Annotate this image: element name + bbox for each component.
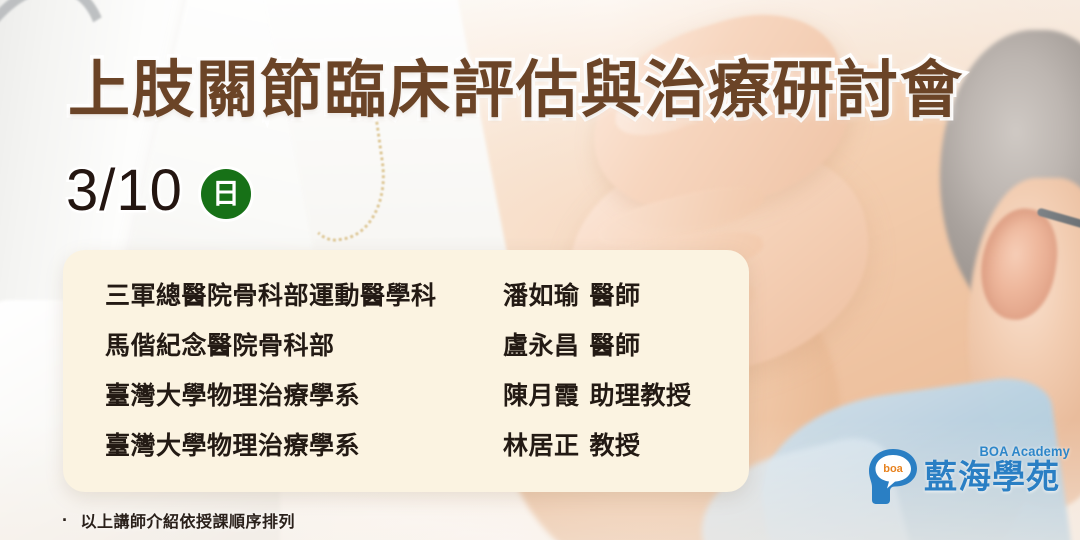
- speaker-organization: 馬偕紀念醫院骨科部: [105, 326, 503, 362]
- speaker-row: 馬偕紀念醫院骨科部 盧永昌醫師: [63, 326, 749, 376]
- speaker-person: 陳月霞助理教授: [503, 376, 692, 412]
- speaker-role: 教授: [590, 432, 641, 460]
- speaker-organization: 三軍總醫院骨科部運動醫學科: [105, 276, 503, 312]
- logo-chinese-name: 藍海學苑: [924, 460, 1070, 495]
- logo-mark-text: boa: [883, 463, 903, 475]
- banner-title: 上肢關節臨床評估與治療研討會: [68, 56, 964, 125]
- footnote: · 以上講師介紹依授課順序排列: [62, 508, 295, 532]
- speaker-name: 陳月霞: [503, 382, 580, 410]
- boa-academy-logo: boa BOA Academy 藍海學苑: [866, 443, 1066, 505]
- speaker-name: 潘如瑜: [503, 282, 580, 310]
- speaker-row: 臺灣大學物理治療學系 林居正教授: [63, 426, 749, 476]
- event-date: 3/10: [66, 162, 183, 220]
- speaker-role: 醫師: [590, 282, 641, 310]
- speaker-person: 林居正教授: [503, 426, 641, 462]
- event-date-row: 3/10 日: [66, 162, 251, 220]
- speaker-role: 助理教授: [590, 382, 692, 410]
- speaker-row: 三軍總醫院骨科部運動醫學科 潘如瑜醫師: [63, 276, 749, 326]
- banner-content: 上肢關節臨床評估與治療研討會 3/10 日 三軍總醫院骨科部運動醫學科 潘如瑜醫…: [0, 0, 1080, 540]
- speaker-person: 潘如瑜醫師: [503, 276, 641, 312]
- speaker-name: 林居正: [503, 432, 580, 460]
- weekday-badge: 日: [201, 169, 251, 219]
- speaker-organization: 臺灣大學物理治療學系: [105, 376, 503, 412]
- footnote-bullet-icon: ·: [62, 511, 69, 529]
- seminar-banner: 上肢關節臨床評估與治療研討會 3/10 日 三軍總醫院骨科部運動醫學科 潘如瑜醫…: [0, 0, 1080, 540]
- speaker-role: 醫師: [590, 332, 641, 360]
- speaker-organization: 臺灣大學物理治療學系: [105, 426, 503, 462]
- logo-english-name: BOA Academy: [936, 443, 1070, 459]
- speaker-name: 盧永昌: [503, 332, 580, 360]
- speaker-person: 盧永昌醫師: [503, 326, 641, 362]
- footnote-text: 以上講師介紹依授課順序排列: [81, 508, 296, 532]
- speaker-card: 三軍總醫院骨科部運動醫學科 潘如瑜醫師 馬偕紀念醫院骨科部 盧永昌醫師 臺灣大學…: [63, 250, 749, 492]
- brain-head-icon: boa: [866, 447, 922, 505]
- speaker-row: 臺灣大學物理治療學系 陳月霞助理教授: [63, 376, 749, 426]
- logo-wordmark: BOA Academy 藍海學苑: [924, 443, 1070, 495]
